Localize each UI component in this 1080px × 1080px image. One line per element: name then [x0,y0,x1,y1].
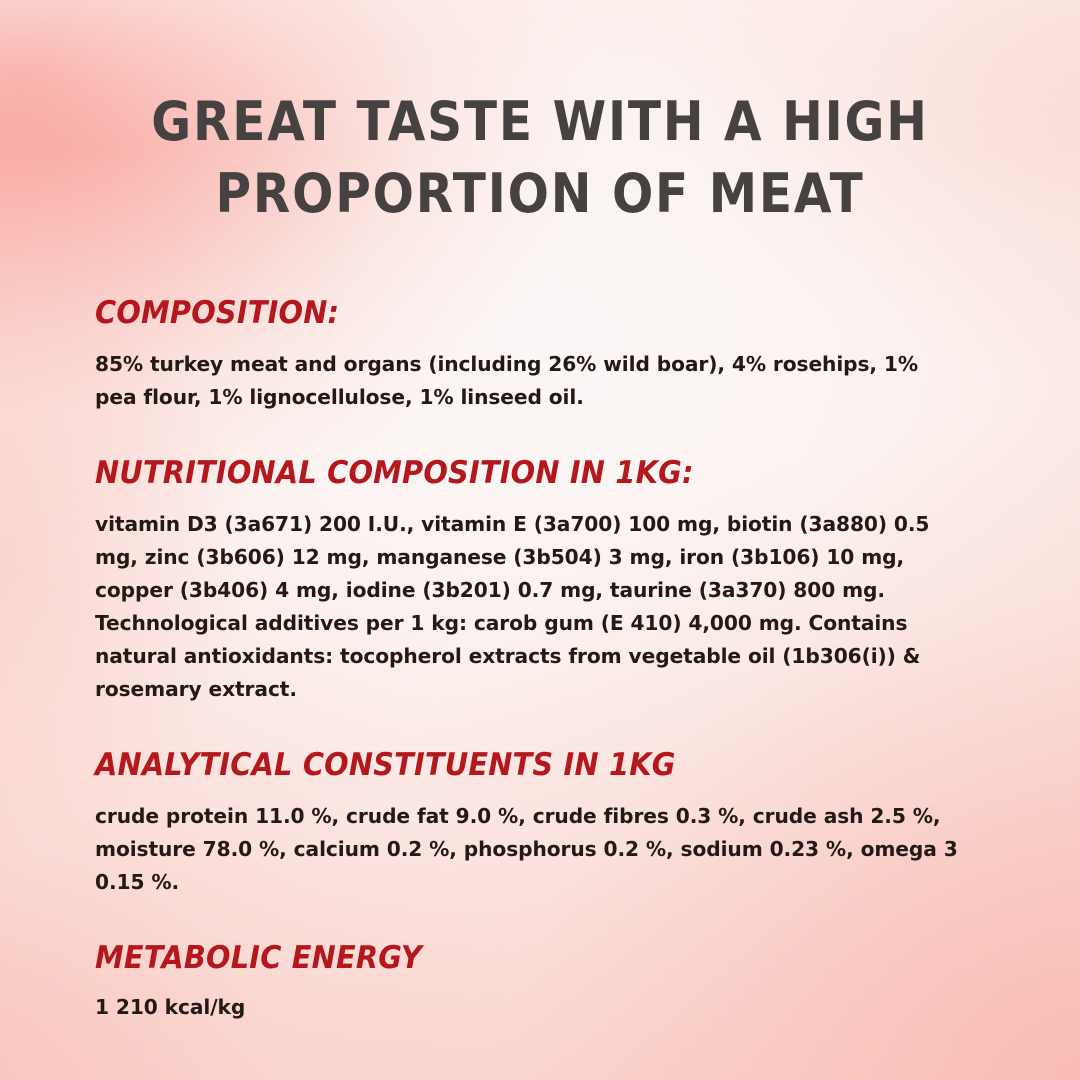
section-analytical-constituents: ANALYTICAL CONSTITUENTS IN 1KG crude pro… [95,746,985,899]
section-body-nutritional-composition: vitamin D3 (3a671) 200 I.U., vitamin E (… [95,508,972,706]
page-title-line-2: PROPORTION OF MEAT [140,158,941,230]
section-heading-nutritional-composition: NUTRITIONAL COMPOSITION IN 1KG: [95,454,923,492]
section-body-analytical-constituents: crude protein 11.0 %, crude fat 9.0 %, c… [95,800,972,899]
section-heading-metabolic-energy: METABOLIC ENERGY [95,939,923,977]
product-info-panel: GREAT TASTE WITH A HIGH PROPORTION OF ME… [0,0,1080,1080]
section-nutritional-composition: NUTRITIONAL COMPOSITION IN 1KG: vitamin … [95,454,985,706]
section-body-composition: 85% turkey meat and organs (including 26… [95,348,927,414]
section-heading-analytical-constituents: ANALYTICAL CONSTITUENTS IN 1KG [95,746,923,784]
page-title-line-1: GREAT TASTE WITH A HIGH [140,86,941,158]
page-title: GREAT TASTE WITH A HIGH PROPORTION OF ME… [95,0,985,230]
section-body-metabolic-energy: 1 210 kcal/kg [95,991,588,1024]
section-heading-composition: COMPOSITION: [95,294,923,332]
section-composition: COMPOSITION: 85% turkey meat and organs … [95,294,985,414]
section-metabolic-energy: METABOLIC ENERGY 1 210 kcal/kg [95,939,985,1024]
